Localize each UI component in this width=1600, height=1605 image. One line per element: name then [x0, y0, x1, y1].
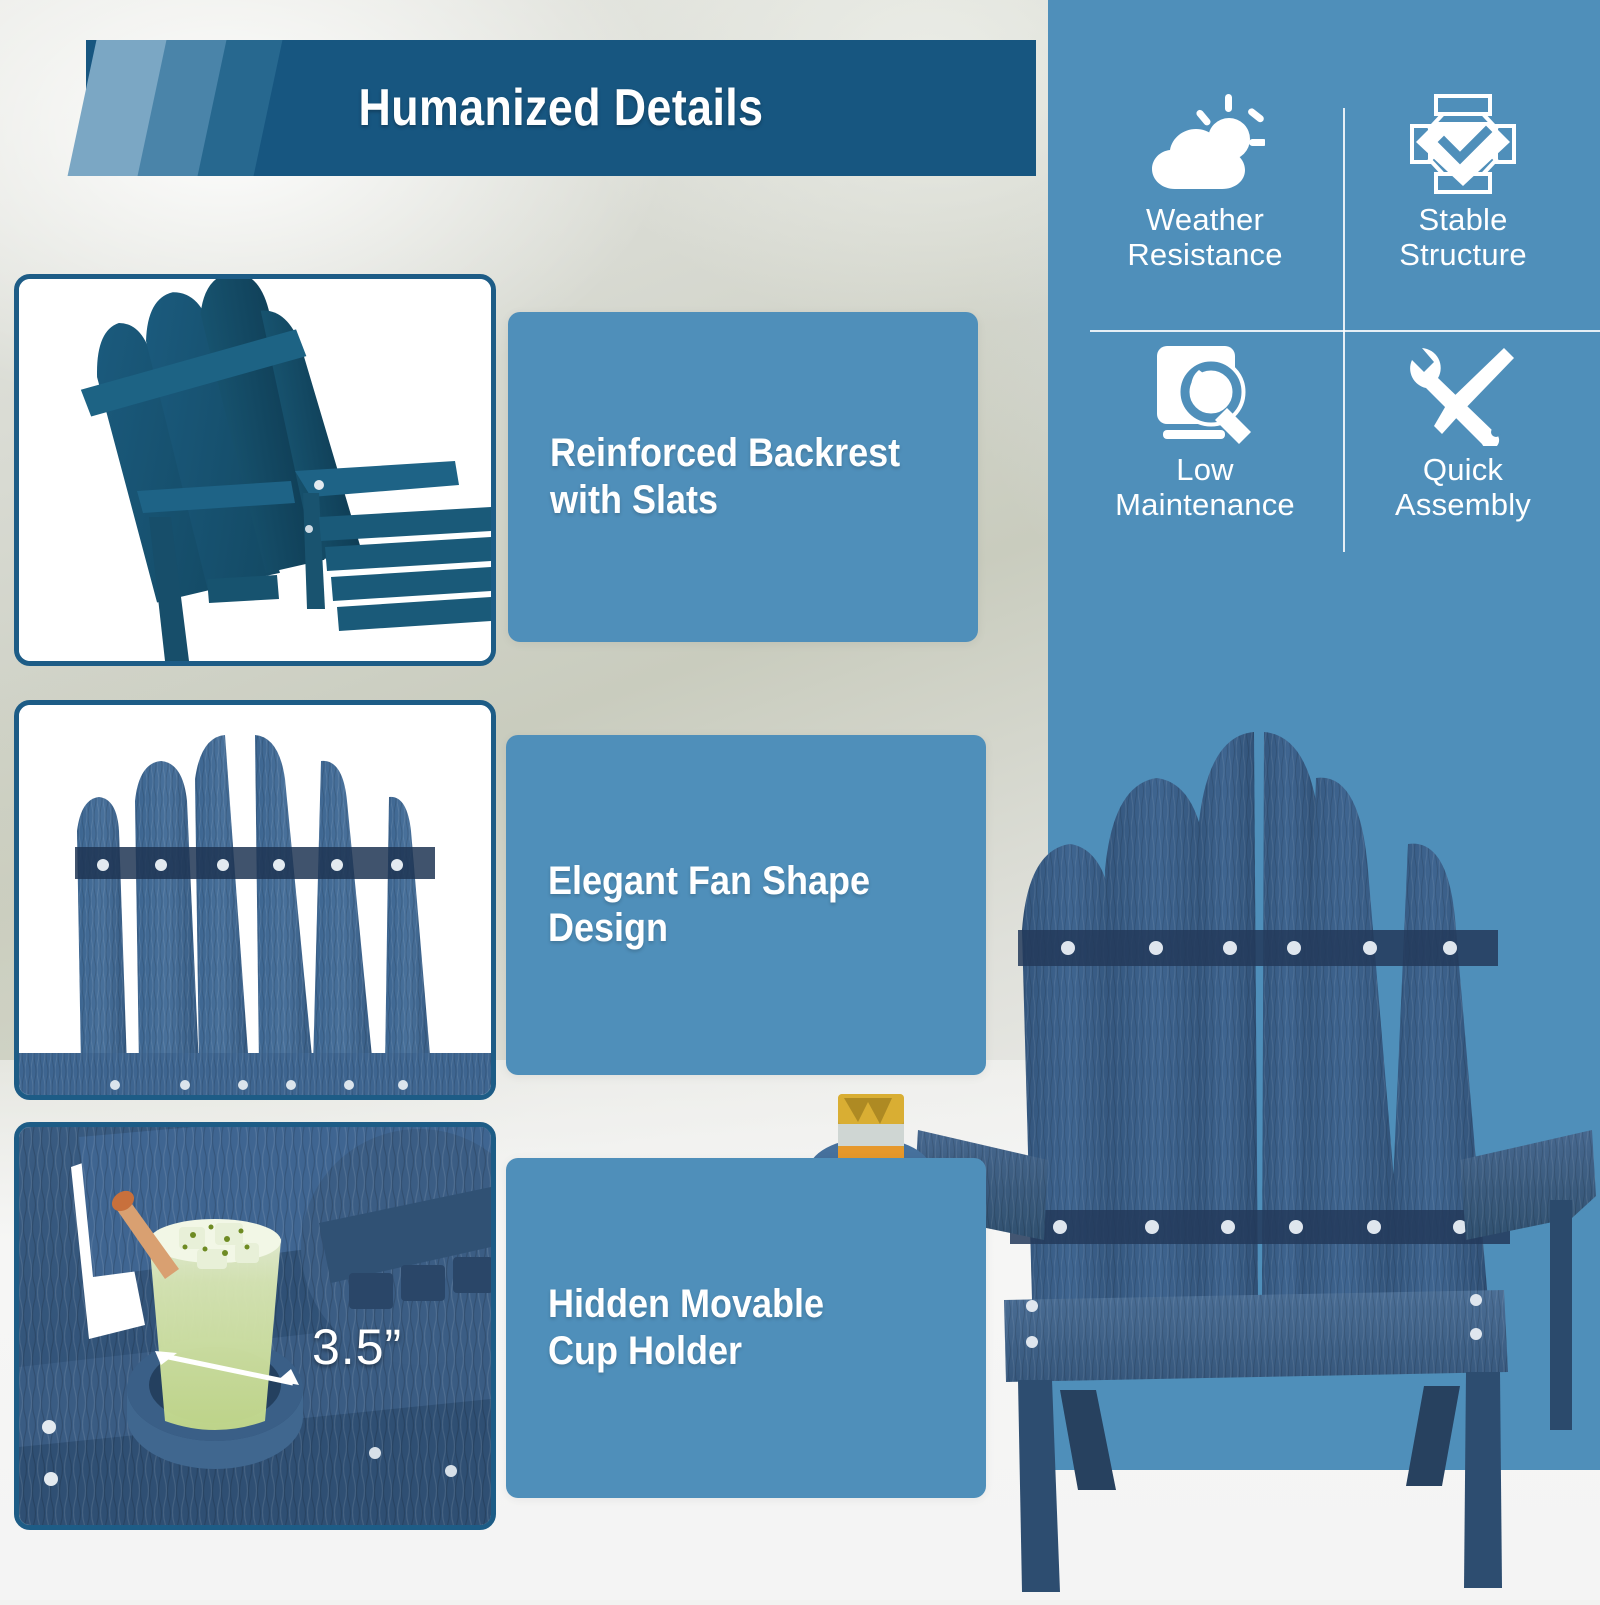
caption-line-2: with Slats: [550, 477, 900, 524]
feature-grid-horizontal-divider: [1090, 330, 1600, 332]
caption-line-2: Design: [548, 905, 870, 952]
feature-item-quick-assembly: Quick Assembly: [1344, 340, 1582, 570]
feature-item-low-maintenance: Low Maintenance: [1086, 340, 1324, 570]
header-banner: Humanized Details: [86, 40, 1036, 176]
quick-assembly-tools-icon: [1403, 340, 1523, 448]
feature-label-quick-assembly: Quick Assembly: [1395, 452, 1531, 522]
backrest-slats-photo: [14, 274, 496, 666]
caption-line-1: Elegant Fan Shape: [548, 858, 870, 905]
caption-line-1: Reinforced Backrest: [550, 430, 900, 477]
caption-panel-fan-shape: Elegant Fan Shape Design: [506, 735, 986, 1075]
feature-grid: Weather Resistance: [1068, 90, 1580, 570]
feature-item-weather-resistance: Weather Resistance: [1086, 90, 1324, 320]
feature-label-weather-resistance: Weather Resistance: [1127, 202, 1282, 272]
stable-structure-shield-check-icon: [1403, 90, 1523, 198]
feature-label-low-maintenance: Low Maintenance: [1115, 452, 1295, 522]
page-title: Humanized Details: [153, 40, 970, 176]
weather-cloud-sun-icon: [1145, 90, 1265, 198]
cup-holder-dimension-label: 3.5”: [312, 1318, 402, 1376]
cup-holder-photo: [14, 1122, 496, 1530]
caption-line-1: Hidden Movable: [548, 1281, 824, 1328]
caption-text-fan-shape: Elegant Fan Shape Design: [548, 858, 870, 952]
caption-panel-cup-holder: Hidden Movable Cup Holder: [506, 1158, 986, 1498]
caption-text-reinforced-backrest: Reinforced Backrest with Slats: [550, 430, 900, 524]
feature-label-stable-structure: Stable Structure: [1399, 202, 1527, 272]
caption-panel-reinforced-backrest: Reinforced Backrest with Slats: [508, 312, 978, 642]
caption-text-cup-holder: Hidden Movable Cup Holder: [548, 1281, 824, 1375]
caption-line-2: Cup Holder: [548, 1328, 824, 1375]
low-maintenance-wrench-icon: [1145, 340, 1265, 448]
feature-item-stable-structure: Stable Structure: [1344, 90, 1582, 320]
fan-shape-backrest-photo: [14, 700, 496, 1100]
